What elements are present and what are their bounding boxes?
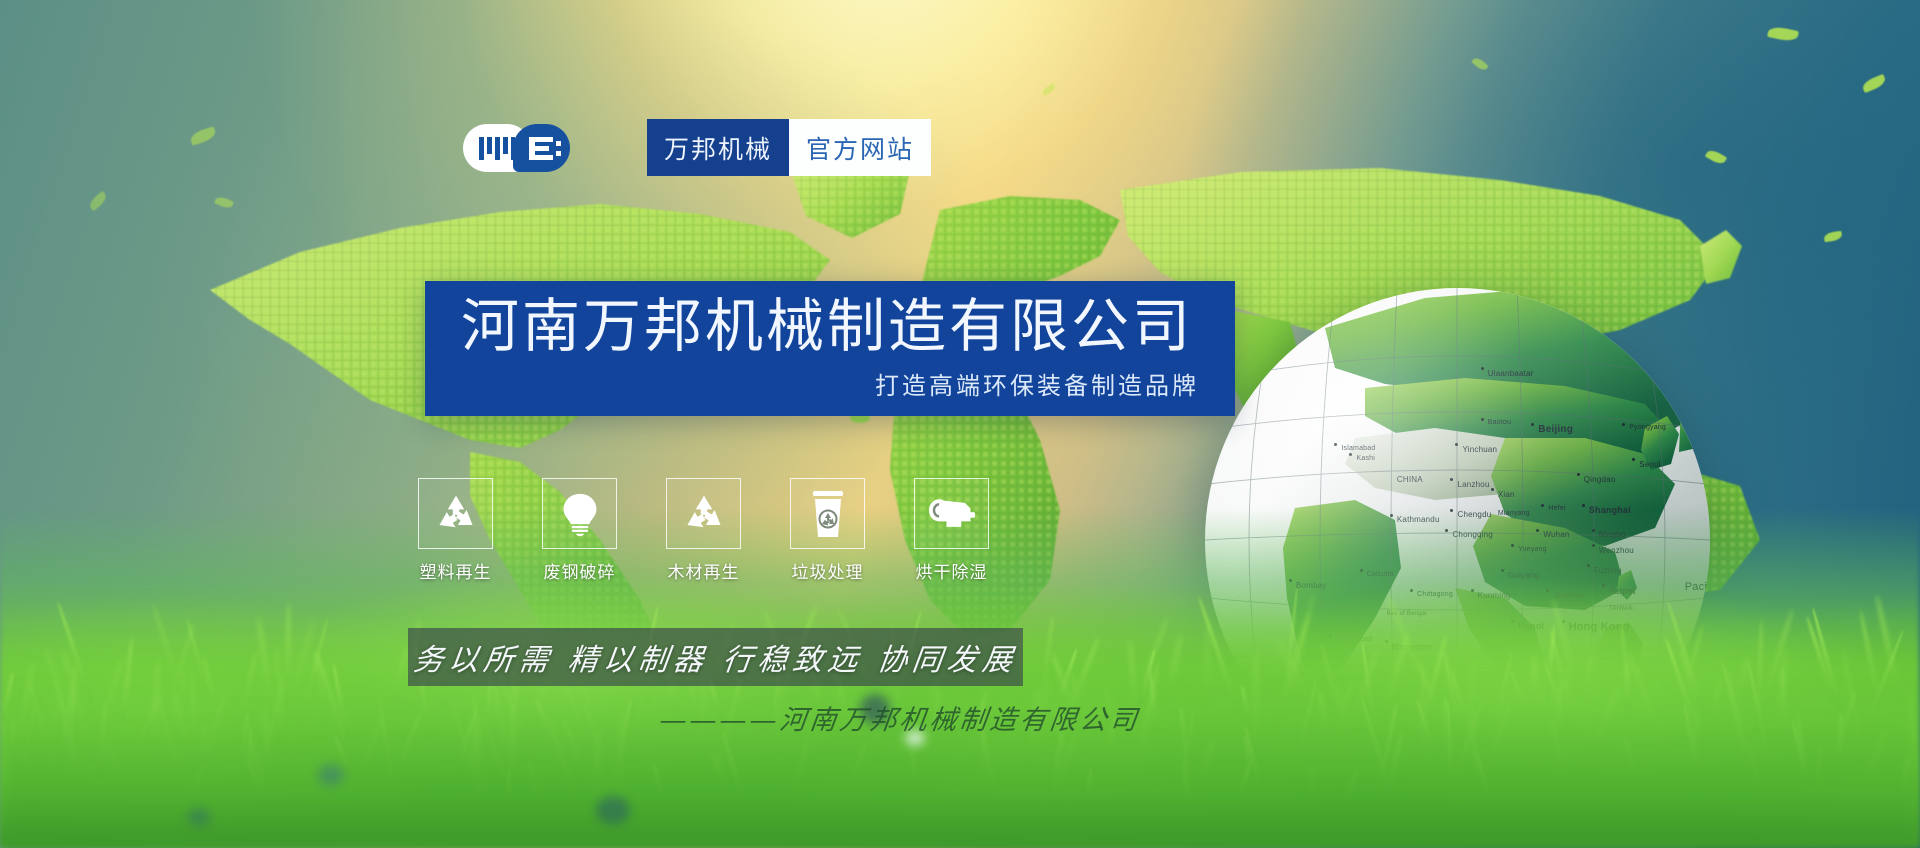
- page-subtitle: 打造高端环保装备制造品牌: [461, 366, 1199, 401]
- hero-banner: UlaanbaatarBeijingBaotouYinchuanLanzhouC…: [0, 0, 1920, 848]
- logo-w-glyph: [477, 137, 517, 160]
- hero-title-panel: 河南万邦机械制造有限公司 打造高端环保装备制造品牌: [425, 281, 1235, 416]
- feature-drying-dehumidifying[interactable]: 烘干除湿: [914, 478, 989, 583]
- bokeh-dot: [596, 796, 630, 824]
- feature-scrap-steel-shredding[interactable]: 废钢破碎: [542, 478, 617, 583]
- slogan-attribution: ————河南万邦机械制造有限公司: [658, 698, 1283, 737]
- bokeh-dot: [188, 808, 210, 826]
- feature-label: 废钢破碎: [542, 558, 617, 583]
- feature-icon-row: 塑料再生 废钢破碎 木材再生: [418, 478, 989, 583]
- trash-bin-icon: [810, 491, 846, 537]
- bokeh-dot: [318, 764, 344, 786]
- feature-icon-box: [666, 478, 741, 549]
- slogan-text: 务以所需 精以制器 行稳致远 协同发展: [411, 635, 1020, 679]
- globe-city-dot: [1622, 423, 1625, 426]
- feature-label: 木材再生: [666, 558, 741, 583]
- recycle-icon: [682, 492, 726, 536]
- brand-tab-group: 万邦机械 官方网站: [647, 119, 931, 176]
- feature-icon-box: [790, 478, 865, 549]
- tab-company-name-label: 万邦机械: [664, 130, 772, 166]
- feature-icon-box: [914, 478, 989, 549]
- tab-official-site[interactable]: 官方网站: [789, 119, 931, 176]
- dryer-icon: [928, 497, 976, 531]
- tab-company-name[interactable]: 万邦机械: [647, 119, 789, 176]
- feature-wood-recycling[interactable]: 木材再生: [666, 478, 741, 583]
- page-title: 河南万邦机械制造有限公司: [461, 296, 1199, 356]
- feature-icon-box: [418, 478, 493, 549]
- feature-plastic-recycling[interactable]: 塑料再生: [418, 478, 493, 583]
- feature-waste-treatment[interactable]: 垃圾处理: [790, 478, 865, 583]
- feature-icon-box: [542, 478, 617, 549]
- feature-label: 烘干除湿: [914, 558, 989, 583]
- wanbang-logo[interactable]: [463, 124, 570, 172]
- feature-label: 塑料再生: [418, 558, 493, 583]
- logo-b-glyph: [529, 137, 561, 160]
- feature-label: 垃圾处理: [790, 558, 865, 583]
- slogan-bar: 务以所需 精以制器 行稳致远 协同发展: [408, 628, 1023, 686]
- recycle-icon: [434, 492, 478, 536]
- lightbulb-icon: [559, 492, 601, 536]
- globe-city-dot: [1481, 418, 1484, 421]
- globe-city-dot: [1582, 504, 1585, 507]
- tab-official-site-label: 官方网站: [806, 130, 914, 166]
